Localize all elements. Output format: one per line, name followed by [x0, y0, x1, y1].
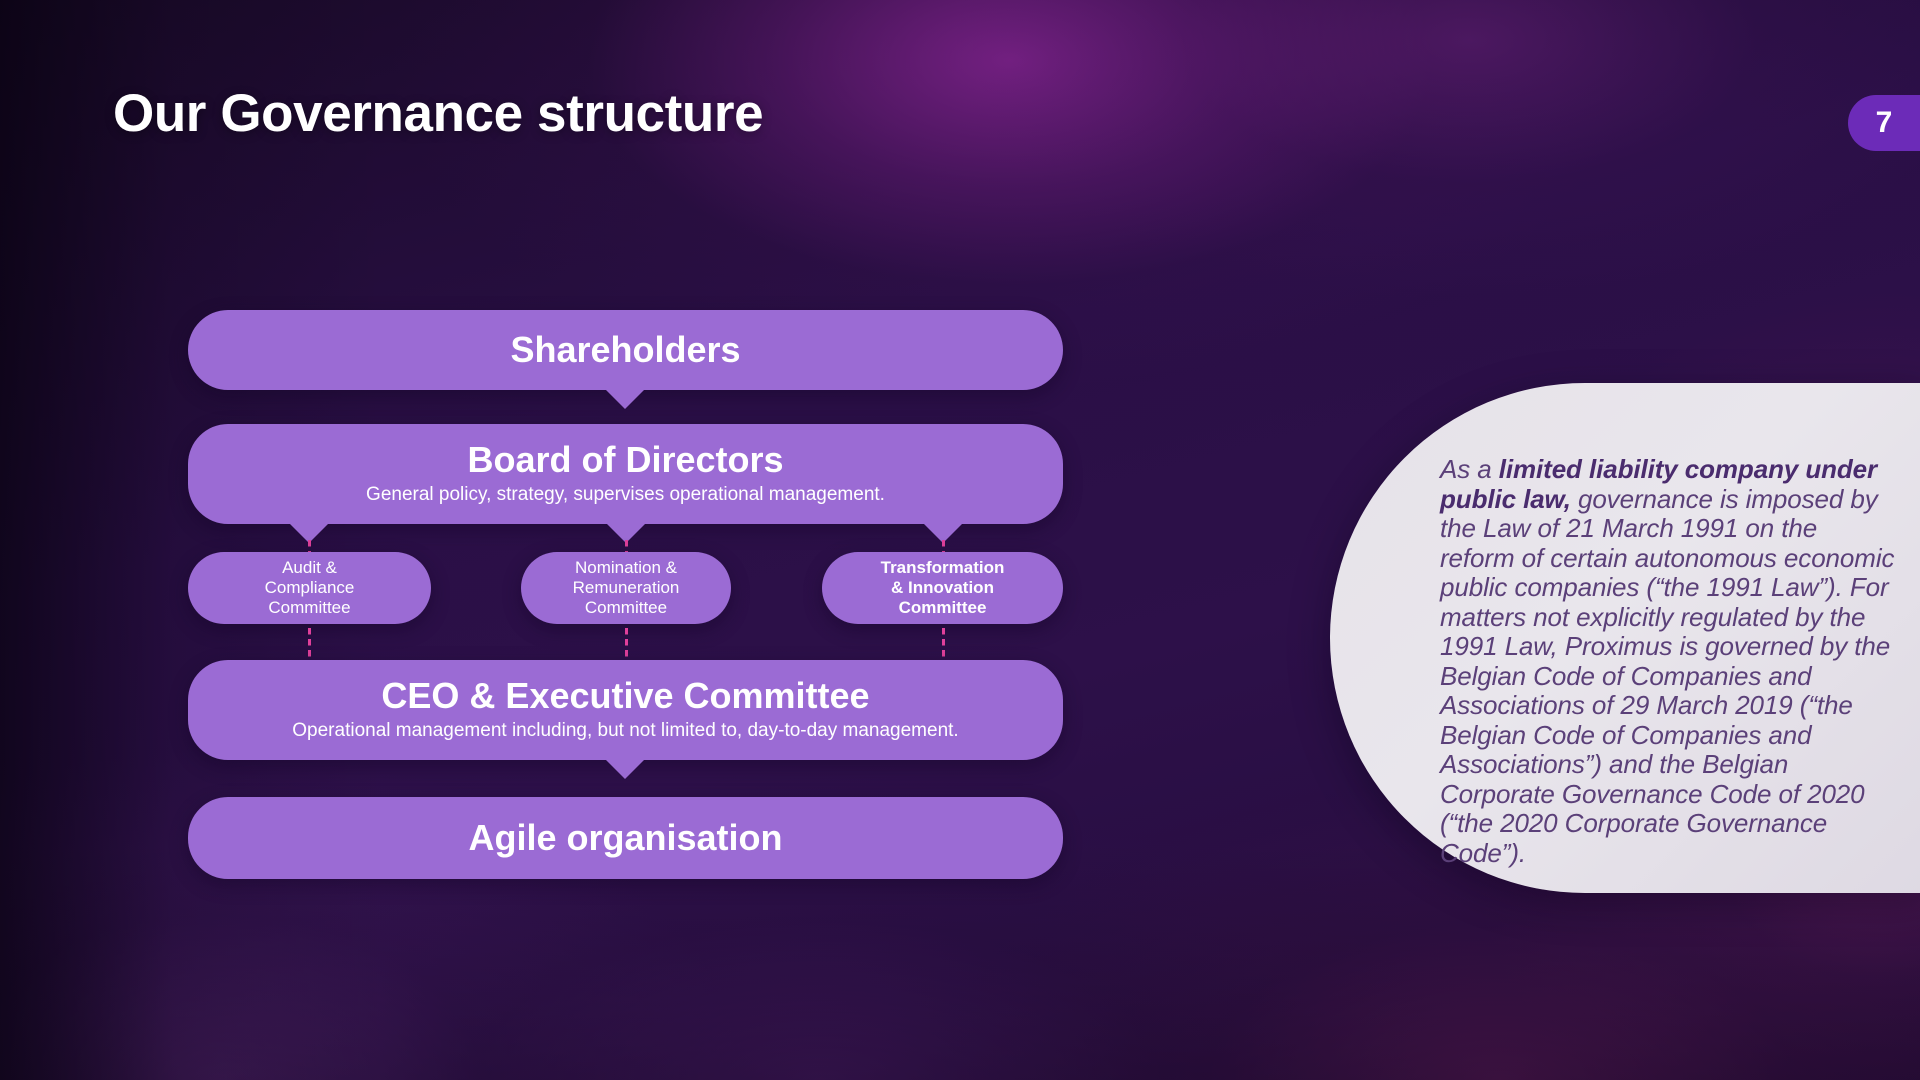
node-agile-organisation[interactable]: Agile organisation — [188, 797, 1063, 879]
node-audit-line3: Committee — [268, 598, 350, 617]
info-lead: As a — [1440, 454, 1499, 484]
node-transformation-line1: Transformation — [881, 558, 1005, 577]
node-nomination-line3: Committee — [585, 598, 667, 617]
node-board-of-directors[interactable]: Board of Directors General policy, strat… — [188, 424, 1063, 524]
node-transformation-innovation-committee[interactable]: Transformation & Innovation Committee — [822, 552, 1063, 624]
node-ceo-executive-committee[interactable]: CEO & Executive Committee Operational ma… — [188, 660, 1063, 760]
node-agile-title: Agile organisation — [468, 819, 782, 857]
node-transformation-line2: & Innovation — [891, 578, 994, 597]
node-nomination-line2: Remuneration — [573, 578, 680, 597]
node-board-title: Board of Directors — [467, 441, 783, 479]
node-shareholders[interactable]: Shareholders — [188, 310, 1063, 390]
connector-dash-nomination-to-ceo — [625, 628, 628, 658]
node-transformation-text: Transformation & Innovation Committee — [881, 558, 1005, 618]
node-audit-compliance-committee[interactable]: Audit & Compliance Committee — [188, 552, 431, 624]
connector-arrow-shareholders-to-board — [606, 390, 644, 409]
info-panel: As a limited liability company under pub… — [1330, 383, 1920, 893]
connector-arrow-ceo-to-agile — [606, 760, 644, 779]
page-title: Our Governance structure — [113, 83, 763, 144]
page-number-badge: 7 — [1848, 95, 1920, 151]
connector-dash-transformation-to-ceo — [942, 628, 945, 658]
info-body: governance is imposed by the Law of 21 M… — [1440, 484, 1894, 868]
slide-canvas: Our Governance structure 7 Shareholders … — [0, 0, 1920, 1080]
node-ceo-title: CEO & Executive Committee — [381, 677, 869, 715]
info-panel-text: As a limited liability company under pub… — [1440, 455, 1895, 868]
node-audit-line2: Compliance — [265, 578, 355, 597]
node-audit-line1: Audit & — [282, 558, 337, 577]
node-audit-text: Audit & Compliance Committee — [265, 558, 355, 618]
page-number-label: 7 — [1876, 106, 1893, 140]
node-nomination-line1: Nomination & — [575, 558, 677, 577]
node-nomination-text: Nomination & Remuneration Committee — [573, 558, 680, 618]
node-transformation-line3: Committee — [899, 598, 987, 617]
node-board-subtitle: General policy, strategy, supervises ope… — [366, 484, 885, 507]
governance-diagram: Shareholders Board of Directors General … — [188, 300, 1063, 870]
connector-dash-audit-to-ceo — [308, 628, 311, 658]
node-nomination-remuneration-committee[interactable]: Nomination & Remuneration Committee — [521, 552, 731, 624]
node-shareholders-title: Shareholders — [510, 331, 740, 369]
node-ceo-subtitle: Operational management including, but no… — [292, 720, 958, 743]
